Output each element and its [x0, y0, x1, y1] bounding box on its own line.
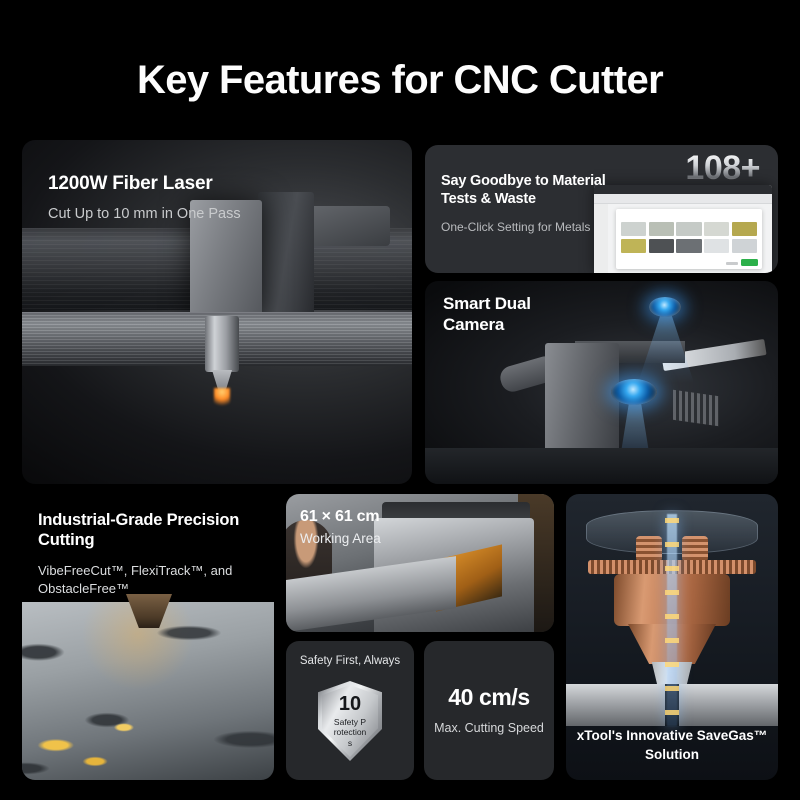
filigree-cut-image	[22, 602, 274, 780]
camera-lens-bottom-icon	[611, 379, 657, 405]
card-fiber-laser[interactable]: 10 mm 10 mm 1200W Fiber Laser Cut Up to …	[22, 140, 412, 484]
shield-icon: 10 Safety Protections	[318, 681, 382, 761]
fiber-laser-caption: 1200W Fiber Laser Cut Up to 10 mm in One…	[48, 172, 278, 225]
safety-count: 10	[339, 694, 361, 714]
swatch	[621, 222, 646, 236]
swatch	[621, 239, 646, 253]
safety-title: Safety First, Always	[286, 655, 414, 667]
material-picker-dialog	[616, 209, 762, 269]
material-title: Say Goodbye to Material Tests & Waste	[441, 173, 616, 208]
swatch	[676, 239, 701, 253]
card-cutting-speed[interactable]: 40 cm/s Max. Cutting Speed	[424, 641, 554, 780]
material-caption: Say Goodbye to Material Tests & Waste On…	[441, 173, 616, 236]
fiber-laser-subtitle: Cut Up to 10 mm in One Pass	[48, 205, 278, 225]
camera-caption: Smart Dual Camera	[443, 294, 583, 335]
card-precision-cutting[interactable]: Industrial-Grade Precision Cutting VibeF…	[22, 494, 274, 780]
working-area-caption: 61 × 61 cm Working Area	[300, 508, 381, 546]
fiber-laser-title: 1200W Fiber Laser	[48, 172, 278, 195]
app-toolbar	[594, 194, 772, 204]
safety-label: Safety Protections	[333, 717, 367, 747]
gas-flow-arrows-icon	[665, 518, 679, 722]
card-material-library[interactable]: 108+	[425, 145, 778, 273]
dialog-cancel-button[interactable]	[726, 262, 738, 265]
precision-title: Industrial-Grade Precision Cutting	[38, 510, 268, 550]
laser-head-bracket	[306, 206, 390, 246]
camera-title: Smart Dual Camera	[443, 294, 583, 335]
card-working-area[interactable]: 61 × 61 cm Working Area	[286, 494, 554, 632]
cutting-speed-label: Max. Cutting Speed	[434, 720, 544, 736]
material-swatch-grid	[621, 222, 757, 253]
cutting-speed-value: 40 cm/s	[448, 684, 530, 711]
savegas-caption: xTool's Innovative SaveGas™ Solution	[566, 726, 778, 764]
working-area-value: 61 × 61 cm	[300, 508, 381, 526]
software-screenshot	[594, 185, 772, 273]
feature-grid-page: Key Features for CNC Cutter 10 mm 10 mm …	[0, 0, 800, 800]
camera-bracket	[545, 343, 619, 453]
material-subtitle: One-Click Setting for Metals	[441, 219, 616, 235]
swatch	[649, 222, 674, 236]
card-smart-dual-camera[interactable]: Smart Dual Camera	[425, 281, 778, 484]
swatch	[732, 239, 757, 253]
precision-caption: Industrial-Grade Precision Cutting VibeF…	[38, 510, 268, 597]
laser-spark-icon	[214, 388, 230, 408]
nozzle-screw-left	[636, 536, 662, 562]
nozzle-screw-right	[682, 536, 708, 562]
laser-nozzle	[205, 316, 239, 372]
page-title: Key Features for CNC Cutter	[0, 58, 800, 103]
material-count-badge: 108+	[685, 149, 760, 188]
precision-subtitle: VibeFreeCut™, FlexiTrack™, and ObstacleF…	[38, 562, 268, 597]
machine-floor	[425, 448, 778, 484]
swatch	[704, 222, 729, 236]
camera-lens-top-icon	[649, 297, 681, 317]
swatch	[704, 239, 729, 253]
vent-grill	[673, 390, 719, 426]
card-savegas[interactable]: xTool's Innovative SaveGas™ Solution	[566, 494, 778, 780]
swatch	[676, 222, 701, 236]
working-area-label: Working Area	[300, 531, 381, 546]
swatch	[732, 222, 757, 236]
swatch	[649, 239, 674, 253]
card-safety[interactable]: Safety First, Always 10 Safety Protectio…	[286, 641, 414, 780]
app-titlebar	[594, 185, 772, 194]
dialog-confirm-button[interactable]	[741, 259, 758, 266]
